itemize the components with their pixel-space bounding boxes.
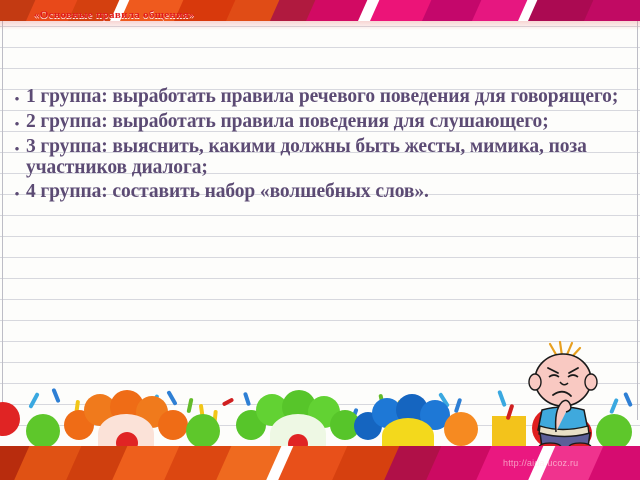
bullet-point-icon: •: [8, 181, 26, 203]
list-item-text: 2 группа: выработать правила поведения д…: [26, 111, 622, 132]
page-right-border: [637, 20, 638, 420]
list-item: • 1 группа: выработать правила речевого …: [8, 86, 622, 108]
list-item: • 3 группа: выяснить, какими должны быть…: [8, 136, 622, 178]
bullet-point-icon: •: [8, 111, 26, 133]
bullet-point-icon: •: [8, 136, 26, 158]
list-item: • 2 группа: выработать правила поведения…: [8, 111, 622, 133]
page-left-border: [2, 20, 3, 420]
cartoon-boy-illustration: [520, 340, 606, 450]
watermark-url: http://aida.ucoz.ru: [503, 458, 578, 468]
list-item-text: 1 группа: выработать правила речевого по…: [26, 86, 622, 107]
page-title: «Основные правила общения»: [34, 9, 195, 21]
list-item: • 4 группа: составить набор «волшебных с…: [8, 181, 622, 203]
presentation-slide: «Основные правила общения» • 1 группа: в…: [0, 0, 640, 480]
banner-fade: [0, 21, 640, 30]
list-item-text: 3 группа: выяснить, какими должны быть ж…: [26, 136, 622, 178]
list-item-text: 4 группа: составить набор «волшебных сло…: [26, 181, 622, 202]
bullet-point-icon: •: [8, 86, 26, 108]
bullet-list: • 1 группа: выработать правила речевого …: [8, 86, 622, 206]
